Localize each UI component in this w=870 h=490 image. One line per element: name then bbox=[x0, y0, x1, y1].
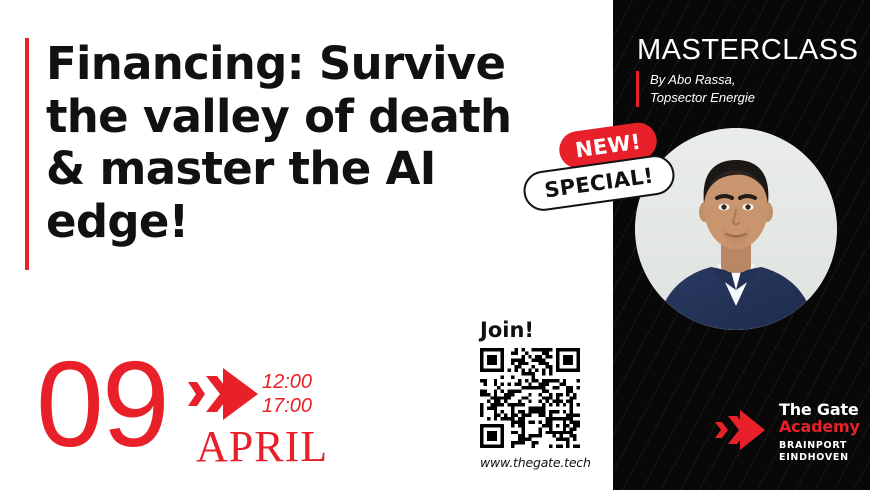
speaker-accent-bar bbox=[636, 71, 639, 107]
logo-academy: Academy bbox=[779, 419, 860, 436]
logo-brainport-eindhoven: BRAINPORT EINDHOVEN bbox=[779, 440, 860, 464]
arrow-chevron-icon bbox=[188, 368, 260, 425]
qr-code[interactable] bbox=[480, 348, 580, 448]
logo-arrow-icon bbox=[715, 408, 767, 457]
dark-panel: MASTERCLASS By Abo Rassa, Topsector Ener… bbox=[613, 0, 870, 490]
speaker-block: By Abo Rassa, Topsector Energie bbox=[636, 71, 755, 107]
masterclass-title: MASTERCLASS bbox=[637, 34, 858, 67]
event-times: 12:00 17:00 bbox=[262, 370, 356, 419]
headline-text: Financing: Survive the valley of death &… bbox=[46, 38, 511, 249]
join-block: Join! www.thegate.tech bbox=[480, 318, 600, 470]
headline-accent-bar bbox=[25, 38, 29, 270]
logo-text-block: The Gate Academy BRAINPORT EINDHOVEN bbox=[779, 402, 860, 464]
masterclass-promo-banner: Financing: Survive the valley of death &… bbox=[0, 0, 870, 490]
website-url[interactable]: www.thegate.tech bbox=[480, 455, 600, 470]
event-day-number: 09 bbox=[36, 343, 168, 465]
speaker-name: By Abo Rassa, Topsector Energie bbox=[650, 71, 755, 107]
event-month: APRIL bbox=[196, 425, 328, 469]
the-gate-academy-logo: The Gate Academy BRAINPORT EINDHOVEN bbox=[715, 402, 860, 464]
event-date-block: 09 12:00 17:00 APRIL bbox=[36, 357, 356, 482]
join-label: Join! bbox=[480, 318, 600, 342]
headline-block: Financing: Survive the valley of death &… bbox=[25, 38, 585, 270]
